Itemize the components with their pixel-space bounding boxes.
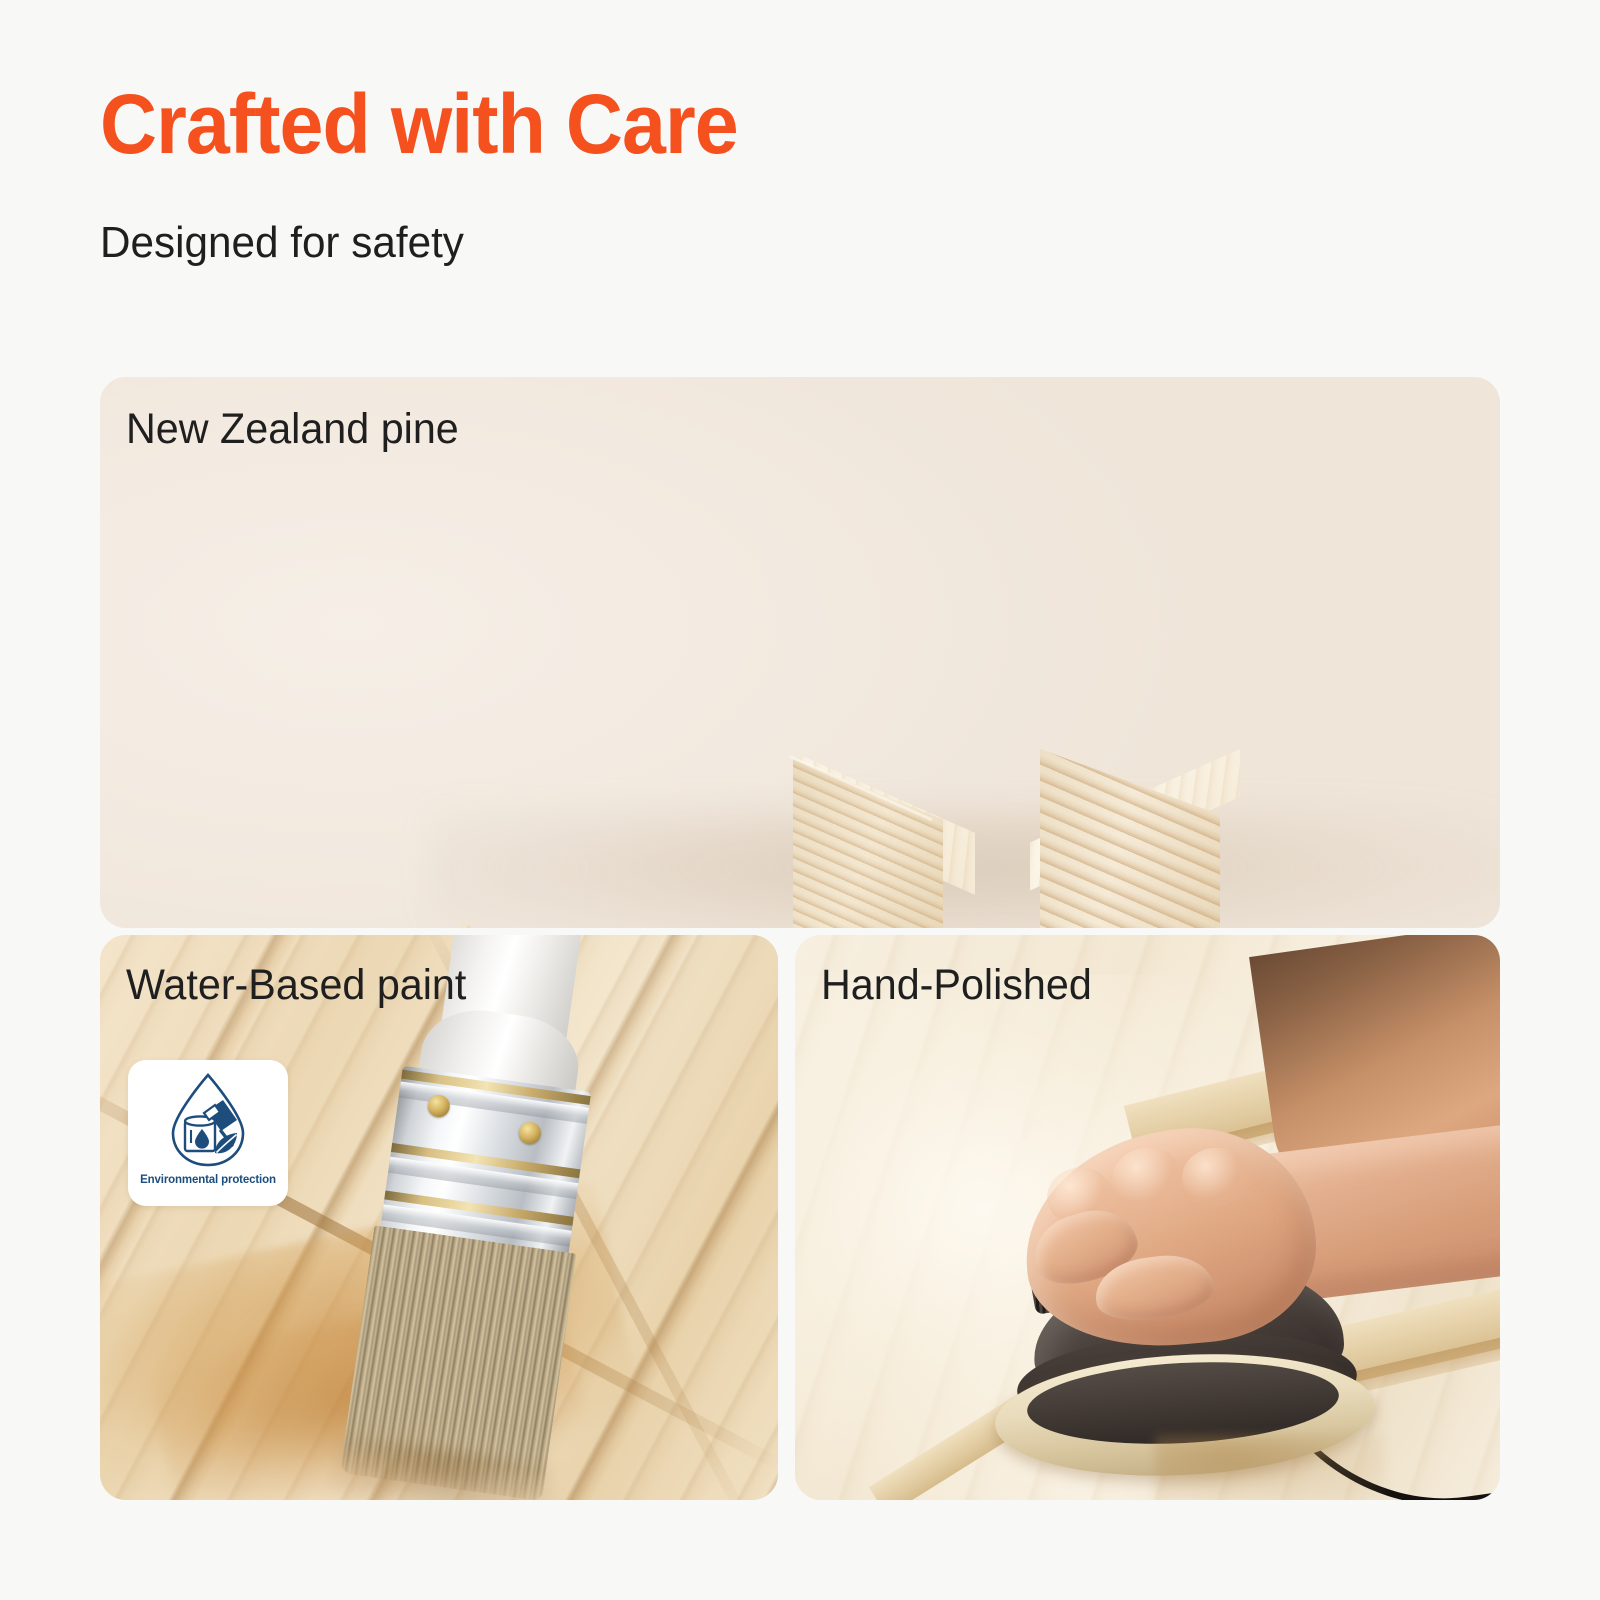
card-label-new-zealand-pine: New Zealand pine <box>126 405 459 454</box>
knuckle-3 <box>1179 1145 1252 1209</box>
pine-lumber-photo <box>100 377 1500 928</box>
page-subtitle: Designed for safety <box>100 166 1348 268</box>
eco-badge-label: Environmental protection <box>140 1174 276 1186</box>
page-header: Crafted with Care Designed for safety <box>100 82 1400 268</box>
feature-card-water-based-paint[interactable]: Environmental protection Water-Based pai… <box>100 935 778 1500</box>
eco-water-drop-paint-icon <box>155 1069 261 1173</box>
card-label-hand-polished: Hand-Polished <box>821 961 1092 1010</box>
card-label-water-based-paint: Water-Based paint <box>126 961 466 1010</box>
sanding-dust <box>1155 1435 1385 1500</box>
brush-rivet-right <box>518 1121 543 1146</box>
page-title: Crafted with Care <box>100 82 1322 166</box>
knuckle-2 <box>1109 1145 1186 1213</box>
feature-card-hand-polished[interactable]: Hand-Polished <box>795 935 1500 1500</box>
feature-card-new-zealand-pine[interactable]: New Zealand pine <box>100 377 1500 928</box>
eco-badge: Environmental protection <box>128 1060 288 1206</box>
